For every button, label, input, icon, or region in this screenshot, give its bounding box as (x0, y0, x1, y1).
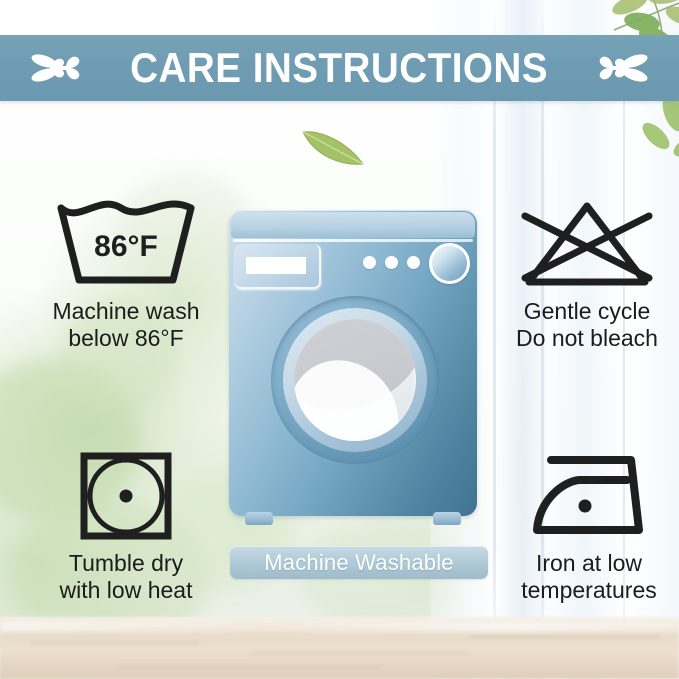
care-item-iron-low: Iron at low temperatures (500, 448, 678, 604)
wash-tub-icon: 86°F (51, 196, 201, 292)
table-grain (30, 642, 200, 644)
machine-control-knob (429, 243, 470, 284)
machine-indicator-dot (407, 256, 420, 269)
care-item-caption: Iron at low temperatures (521, 550, 657, 604)
care-item-machine-wash: 86°F Machine wash below 86°F (16, 196, 236, 352)
care-item-caption: Machine wash below 86°F (52, 298, 199, 352)
table-sheen (0, 622, 679, 632)
floating-leaf-icon (299, 122, 367, 168)
machine-door-glass (294, 319, 416, 441)
care-item-caption: Tumble dry with low heat (60, 550, 193, 604)
table-grain (250, 652, 470, 654)
page-title: CARE INSTRUCTIONS (131, 44, 549, 92)
care-instructions-graphic: CARE INSTRUCTIONS 86°F Machine wash belo… (0, 0, 679, 679)
machine-foot (245, 512, 273, 525)
machine-foot (433, 512, 461, 525)
curtain-fold-line (493, 0, 496, 679)
triangle-crossed-out-icon (515, 196, 659, 292)
machine-display-screen (246, 257, 306, 274)
fleur-de-lis-icon (30, 44, 86, 92)
table-grain (120, 666, 380, 668)
iron-one-dot-icon (527, 448, 651, 544)
machine-washable-badge: Machine Washable (230, 546, 488, 579)
badge-label: Machine Washable (264, 550, 453, 576)
washing-machine-illustration (229, 210, 477, 522)
header-banner: CARE INSTRUCTIONS (0, 35, 679, 101)
tumble-dry-low-icon (74, 448, 178, 544)
machine-indicator-dot (385, 256, 398, 269)
care-item-caption: Gentle cycle Do not bleach (516, 298, 658, 352)
care-item-tumble-dry: Tumble dry with low heat (16, 448, 236, 604)
machine-indicator-dot (363, 256, 376, 269)
machine-control-panel (235, 244, 321, 289)
machine-top-strip (231, 212, 475, 238)
fleur-de-lis-icon (593, 44, 649, 92)
wash-temperature-label: 86°F (94, 230, 158, 263)
care-item-do-not-bleach: Gentle cycle Do not bleach (498, 196, 676, 352)
table-grain (470, 636, 660, 638)
machine-top-separator (233, 239, 473, 242)
